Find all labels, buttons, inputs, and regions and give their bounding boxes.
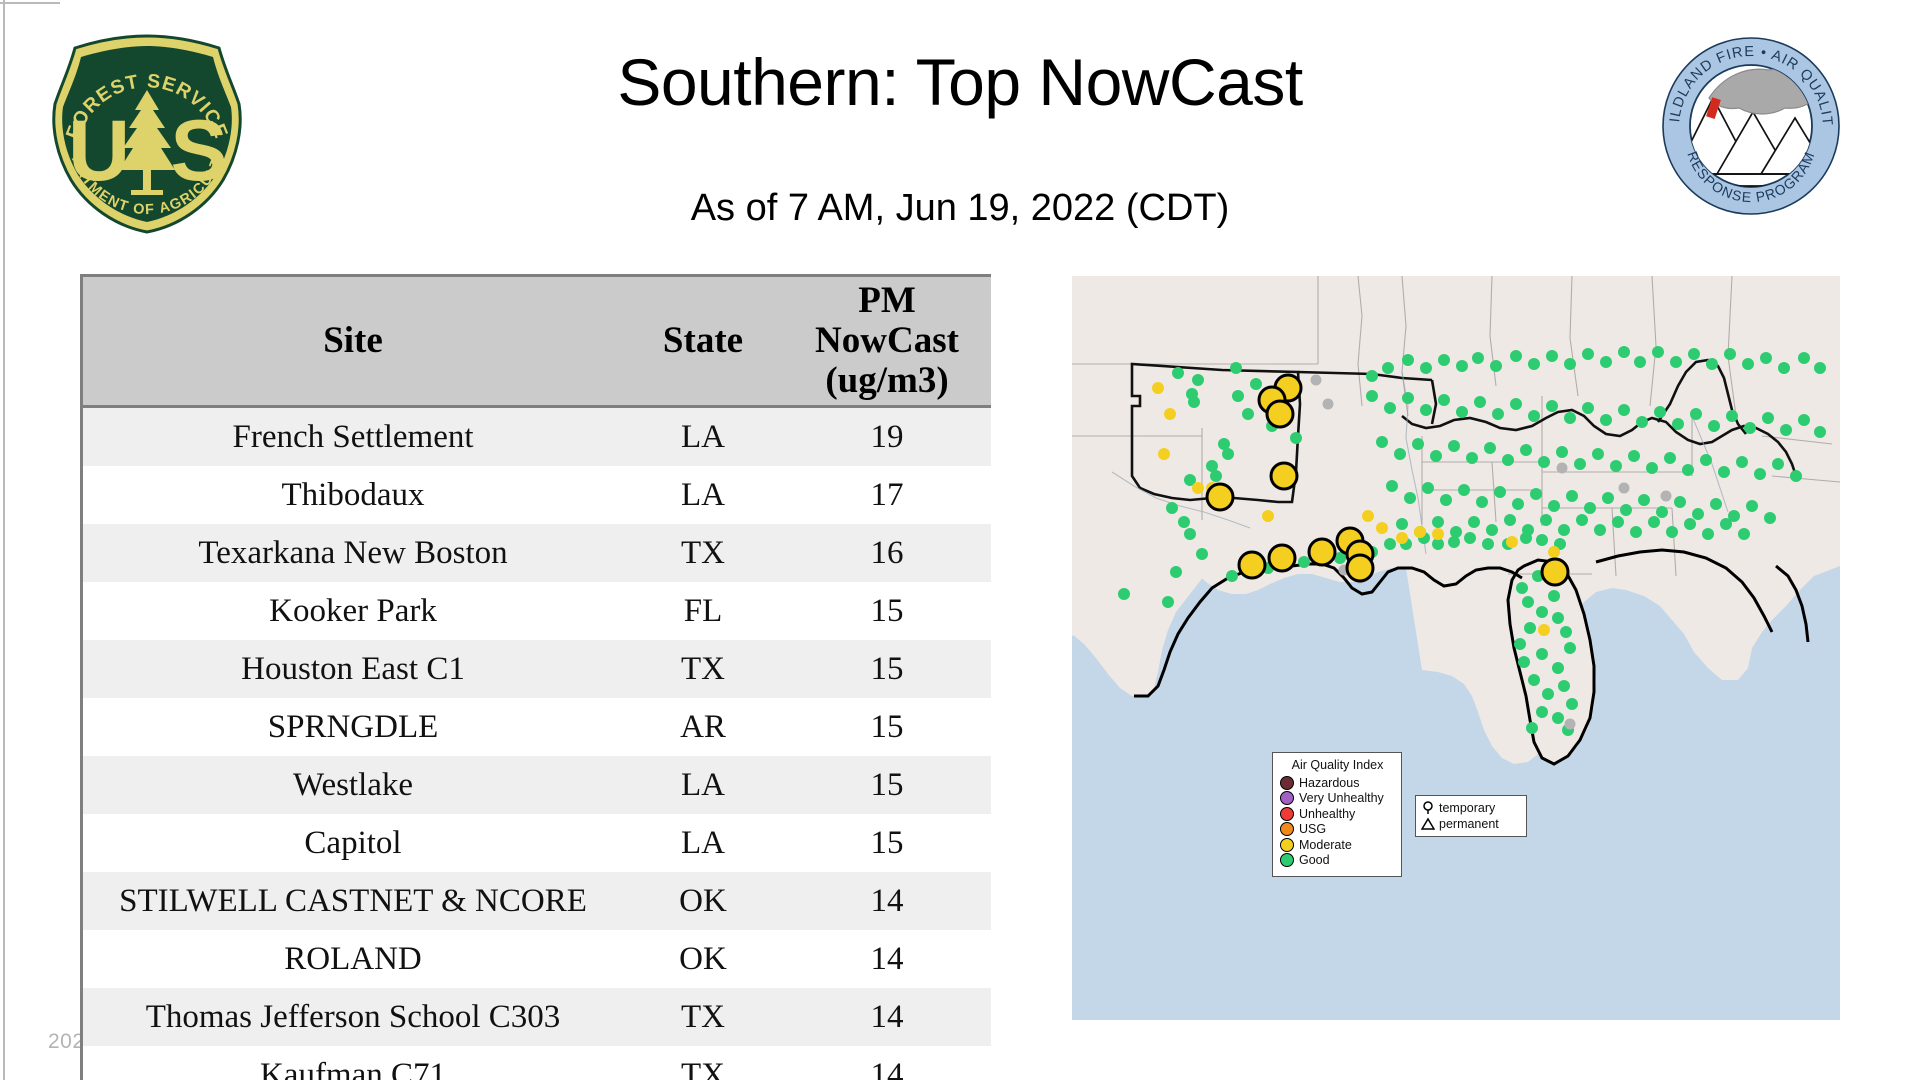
southern-region-map[interactable]: Air Quality Index HazardousVery Unhealth…: [1072, 276, 1840, 1020]
state-cell: TX: [623, 988, 783, 1046]
table-row: Houston East C1TX15: [83, 640, 991, 698]
site-cell: Texarkana New Boston: [83, 524, 623, 582]
highlighted-site-marker[interactable]: [1207, 484, 1233, 510]
slide-top-rule: [0, 2, 60, 4]
pm-cell: 15: [783, 698, 991, 756]
legend-swatch-icon: [1280, 776, 1294, 790]
legend-swatch-icon: [1280, 838, 1294, 852]
highlighted-site-marker[interactable]: [1239, 552, 1265, 578]
pm-line-1: PM: [783, 281, 991, 321]
legend-label: Moderate: [1299, 838, 1352, 852]
pm-cell: 14: [783, 872, 991, 930]
pm-cell: 14: [783, 988, 991, 1046]
slide-left-rule: [3, 0, 5, 1080]
column-header-state: State: [623, 277, 783, 407]
legend-row-good: Good: [1280, 853, 1395, 869]
triangle-icon: [1421, 817, 1435, 831]
site-cell: Kooker Park: [83, 582, 623, 640]
highlighted-site-marker[interactable]: [1542, 559, 1568, 585]
highlighted-site-marker[interactable]: [1309, 539, 1335, 565]
table-row: WestlakeLA15: [83, 756, 991, 814]
legend-row-very-unhealthy: Very Unhealthy: [1280, 791, 1395, 807]
circle-stem-icon: [1421, 801, 1435, 815]
state-cell: LA: [623, 466, 783, 524]
legend-label: Very Unhealthy: [1299, 791, 1384, 805]
legend-row-moderate: Moderate: [1280, 837, 1395, 853]
state-cell: OK: [623, 872, 783, 930]
pm-cell: 16: [783, 524, 991, 582]
state-cell: TX: [623, 1046, 783, 1080]
legend-row-permanent: permanent: [1421, 816, 1521, 832]
state-cell: TX: [623, 640, 783, 698]
table-row: STILWELL CASTNET & NCOREOK14: [83, 872, 991, 930]
page-title: Southern: Top NowCast: [0, 46, 1920, 118]
state-cell: AR: [623, 698, 783, 756]
site-cell: STILWELL CASTNET & NCORE: [83, 872, 623, 930]
table-row: French SettlementLA19: [83, 407, 991, 467]
legend-row-hazardous: Hazardous: [1280, 775, 1395, 791]
site-cell: French Settlement: [83, 407, 623, 467]
legend-row-unhealthy: Unhealthy: [1280, 806, 1395, 822]
highlighted-site-marker[interactable]: [1347, 555, 1373, 581]
pm-cell: 15: [783, 814, 991, 872]
column-header-state-label: State: [663, 320, 743, 361]
highlighted-site-marker[interactable]: [1267, 401, 1293, 427]
pm-line-3: (ug/m3): [783, 361, 991, 401]
nowcast-table: Site State PM NowCast (ug/m3) French Set…: [83, 277, 991, 1080]
table-row: ROLANDOK14: [83, 930, 991, 988]
highlighted-site-marker[interactable]: [1271, 463, 1297, 489]
column-header-site: Site: [83, 277, 623, 407]
table-row: ThibodauxLA17: [83, 466, 991, 524]
table-row: Texarkana New BostonTX16: [83, 524, 991, 582]
site-cell: Westlake: [83, 756, 623, 814]
table-row: Kooker ParkFL15: [83, 582, 991, 640]
site-cell: Thomas Jefferson School C303: [83, 988, 623, 1046]
table-row: Kaufman C71TX14: [83, 1046, 991, 1080]
table-header-row: Site State PM NowCast (ug/m3): [83, 277, 991, 407]
table-row: Thomas Jefferson School C303TX14: [83, 988, 991, 1046]
table-row: CapitolLA15: [83, 814, 991, 872]
table-body: French SettlementLA19ThibodauxLA17Texark…: [83, 407, 991, 1080]
legend-swatch-icon: [1280, 791, 1294, 805]
legend-title: Air Quality Index: [1280, 758, 1395, 772]
state-cell: FL: [623, 582, 783, 640]
column-header-pm-nowcast: PM NowCast (ug/m3): [783, 277, 991, 407]
pm-cell: 17: [783, 466, 991, 524]
pm-cell: 14: [783, 1046, 991, 1080]
site-cell: SPRNGDLE: [83, 698, 623, 756]
site-type-legend: temporary permanent: [1415, 795, 1527, 837]
highlighted-site-marker[interactable]: [1269, 545, 1295, 571]
legend-label: Good: [1299, 853, 1330, 867]
state-cell: LA: [623, 407, 783, 467]
slide: FOREST SERVICE DEPARTMENT OF AGRICULTURE…: [0, 0, 1920, 1080]
legend-swatch-icon: [1280, 807, 1294, 821]
pm-cell: 14: [783, 930, 991, 988]
nowcast-table-container: Site State PM NowCast (ug/m3) French Set…: [80, 274, 991, 1080]
table-row: SPRNGDLEAR15: [83, 698, 991, 756]
legend-label: Hazardous: [1299, 776, 1359, 790]
pm-cell: 15: [783, 582, 991, 640]
site-cell: ROLAND: [83, 930, 623, 988]
column-header-site-label: Site: [323, 320, 383, 361]
legend-swatch-icon: [1280, 822, 1294, 836]
pm-cell: 15: [783, 756, 991, 814]
legend-label-temporary: temporary: [1439, 801, 1495, 815]
state-cell: OK: [623, 930, 783, 988]
legend-label: USG: [1299, 822, 1326, 836]
legend-label-permanent: permanent: [1439, 817, 1499, 831]
site-cell: Capitol: [83, 814, 623, 872]
state-cell: TX: [623, 524, 783, 582]
legend-label: Unhealthy: [1299, 807, 1355, 821]
site-cell: Kaufman C71: [83, 1046, 623, 1080]
pm-cell: 19: [783, 407, 991, 467]
state-cell: LA: [623, 814, 783, 872]
legend-row-usg: USG: [1280, 822, 1395, 838]
pm-cell: 15: [783, 640, 991, 698]
air-quality-index-legend: Air Quality Index HazardousVery Unhealth…: [1272, 752, 1402, 877]
legend-swatch-icon: [1280, 853, 1294, 867]
state-cell: LA: [623, 756, 783, 814]
pm-line-2: NowCast: [783, 321, 991, 361]
legend-row-temporary: temporary: [1421, 800, 1521, 816]
site-cell: Houston East C1: [83, 640, 623, 698]
page-subtitle: As of 7 AM, Jun 19, 2022 (CDT): [0, 186, 1920, 230]
site-cell: Thibodaux: [83, 466, 623, 524]
map-canvas: [1072, 276, 1840, 1020]
